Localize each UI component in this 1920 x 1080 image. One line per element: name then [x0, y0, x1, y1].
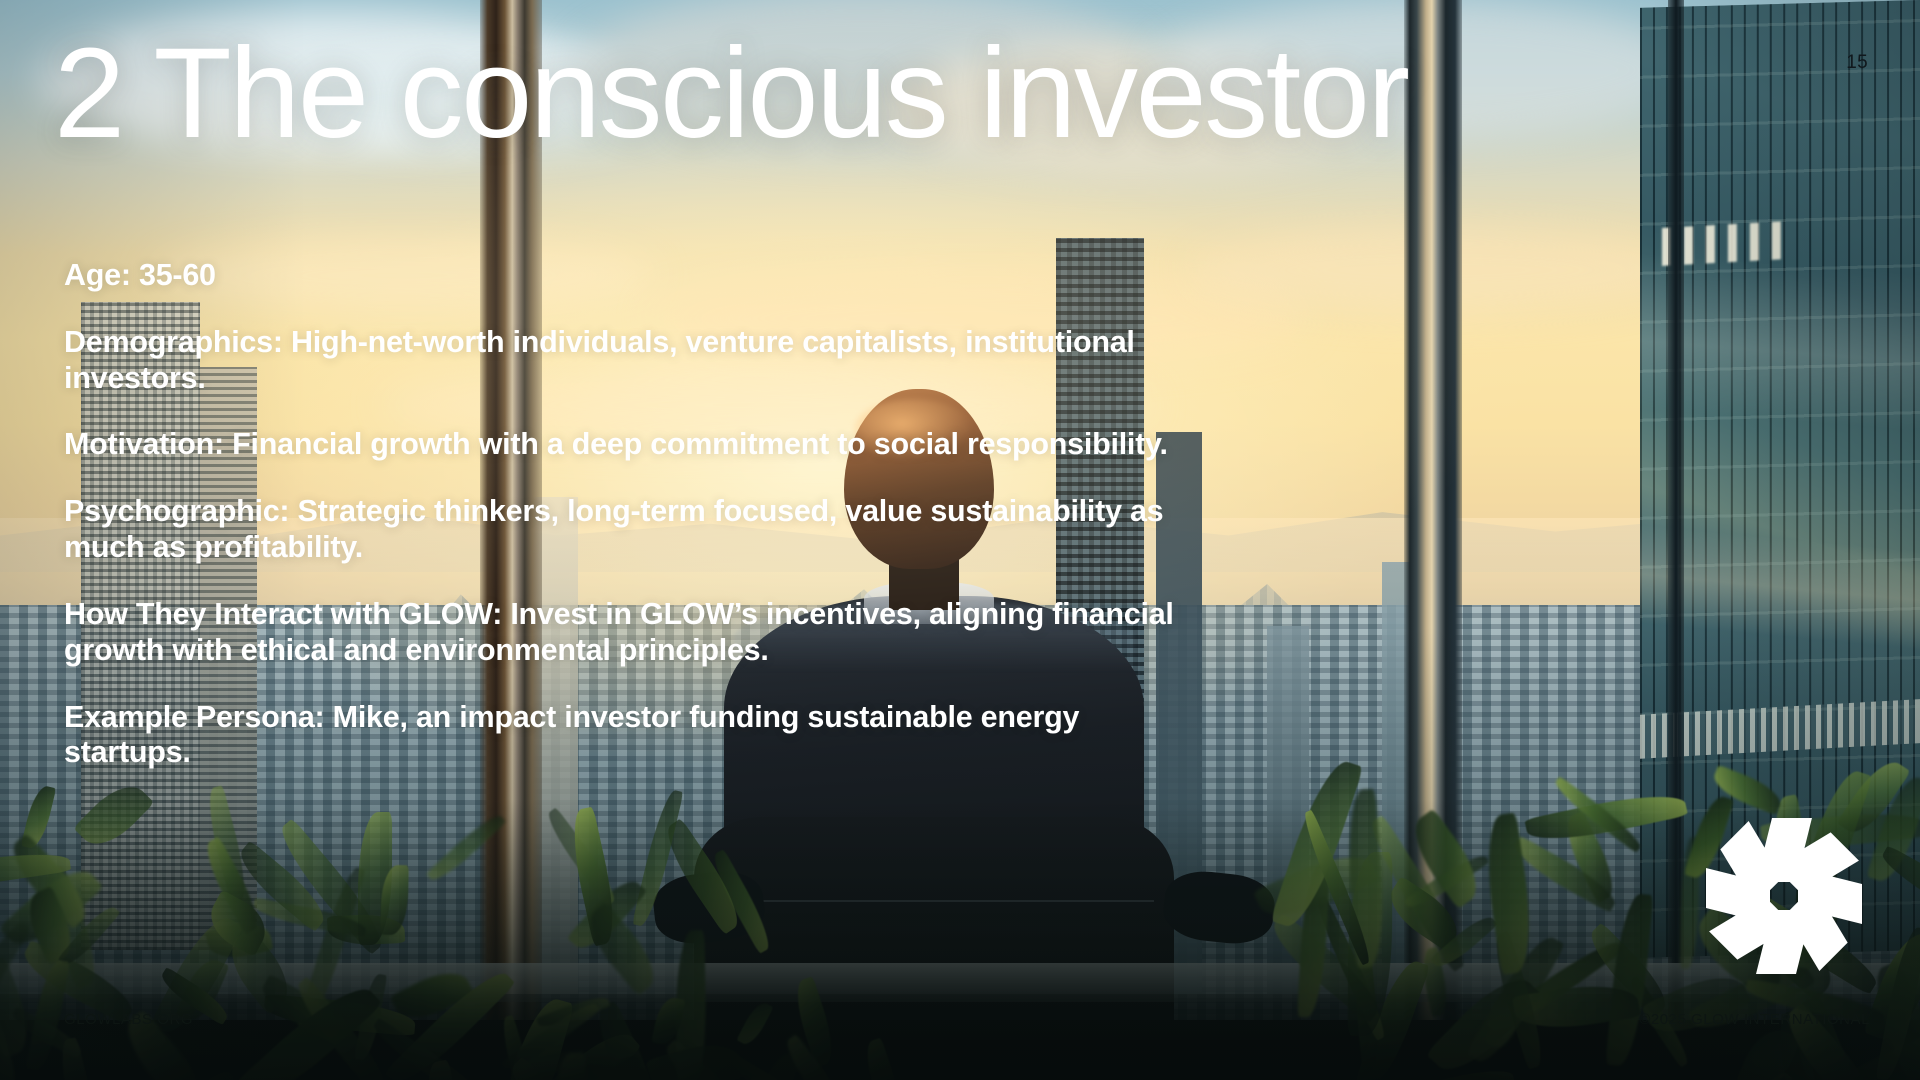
footer-right-copyright: ©2025 GLOW INTERNATIONAL	[1639, 1011, 1870, 1028]
glow-starburst-logo	[1700, 812, 1868, 980]
slide-title: 2 The conscious investor	[54, 26, 1408, 162]
body-paragraph: Demographics: High-net-worth individuals…	[64, 325, 1174, 397]
body-paragraph: How They Interact with GLOW: Invest in G…	[64, 597, 1174, 669]
page-number: 15	[1846, 52, 1868, 74]
body-paragraph: Psychographic: Strategic thinkers, long-…	[64, 494, 1174, 566]
body-paragraph: Example Persona: Mike, an impact investo…	[64, 700, 1174, 772]
body-paragraph: Motivation: Financial growth with a deep…	[64, 427, 1174, 463]
footer-left-url: GLOWLABS.ORG	[64, 1011, 193, 1028]
slide-root: 2 The conscious investor 15 Age: 35-60De…	[0, 0, 1920, 1080]
body-text-block: Age: 35-60Demographics: High-net-worth i…	[64, 258, 1174, 771]
body-paragraph: Age: 35-60	[64, 258, 1174, 294]
